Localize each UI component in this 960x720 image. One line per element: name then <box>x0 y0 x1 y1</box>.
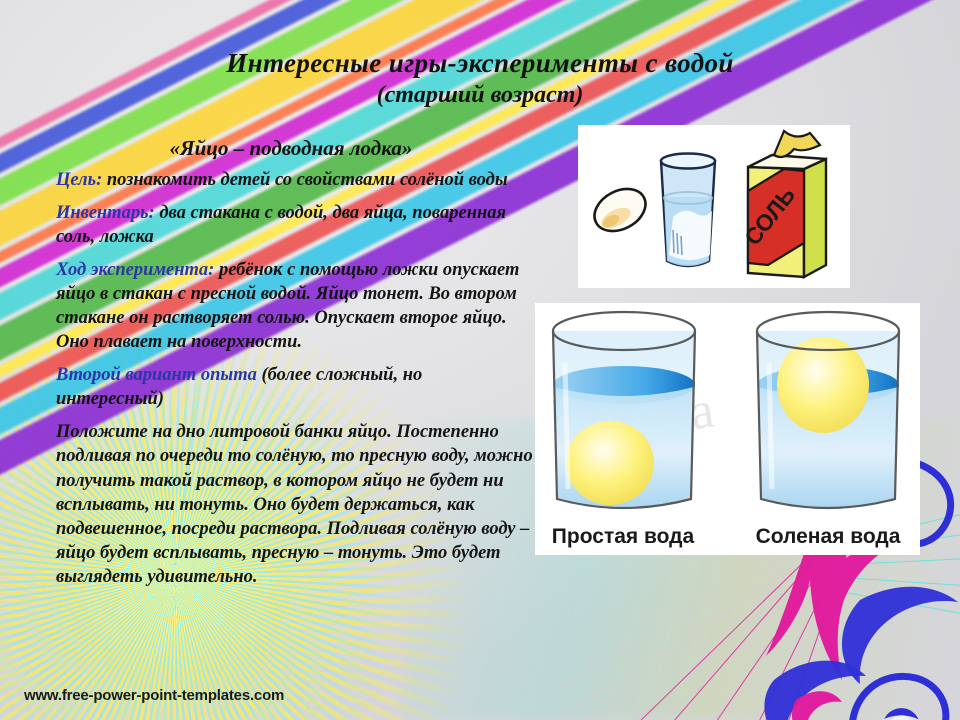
paragraph-variant-body: Положите на дно литровой банки яйцо. Пос… <box>56 420 534 588</box>
paragraph-inventory: Инвентарь: два стакана с водой, два яйца… <box>56 201 534 249</box>
beaker-right-caption: Соленая вода <box>756 525 901 548</box>
egg-glass-salt-illustration: СОЛЬ <box>578 125 850 288</box>
goal-label: Цель: <box>56 170 102 190</box>
beaker-left-caption: Простая вода <box>552 525 695 548</box>
glass-of-water-shape <box>661 154 715 267</box>
egg-sunk <box>566 421 654 505</box>
two-beakers-image: Жика eijka.ru <box>535 303 920 555</box>
title-line-2: (старший возраст) <box>0 81 960 110</box>
egg-floating <box>777 337 869 433</box>
experiment-subtitle: «Яйцо – подводная лодка» <box>56 136 526 161</box>
beaker-salt-water <box>757 312 899 508</box>
inventory-label: Инвентарь: <box>56 203 155 223</box>
goal-text: познакомить детей со свойствами солёной … <box>102 170 507 190</box>
slide-canvas: Интересные игры-эксперименты с водой (ст… <box>0 0 960 720</box>
beaker-plain-water <box>553 312 695 508</box>
procedure-label: Ход эксперимента: <box>56 260 214 280</box>
variant-label: Второй вариант опыта <box>56 365 257 385</box>
egg-glass-salt-image: СОЛЬ <box>578 125 850 288</box>
slide-title: Интересные игры-эксперименты с водой (ст… <box>0 48 960 110</box>
paragraph-goal: Цель: познакомить детей со свойствами со… <box>56 168 534 192</box>
paragraph-procedure: Ход эксперимента: ребёнок с помощью ложк… <box>56 258 534 354</box>
paragraph-variant-heading: Второй вариант опыта (более сложный, но … <box>56 363 534 411</box>
two-beakers-illustration: Жика eijka.ru <box>535 303 920 555</box>
body-text-block: Цель: познакомить детей со свойствами со… <box>56 168 534 598</box>
footer-url: www.free-power-point-templates.com <box>24 687 284 704</box>
title-line-1: Интересные игры-эксперименты с водой <box>0 48 960 79</box>
